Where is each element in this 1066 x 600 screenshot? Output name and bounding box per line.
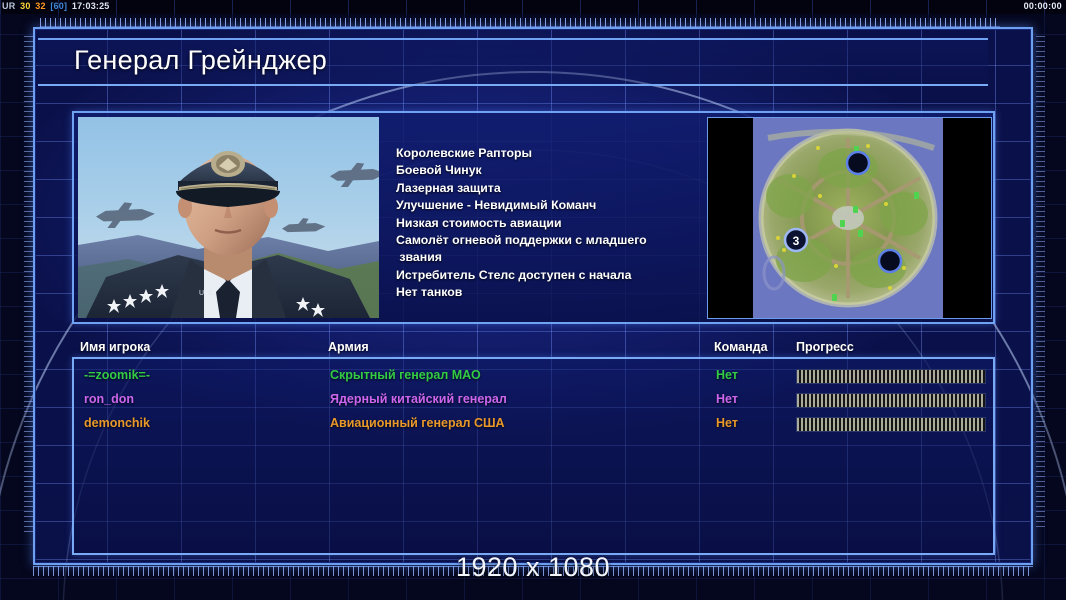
table-row: ron_don Ядерный китайский генерал Нет [74, 389, 993, 413]
fps-value-2: 32 [35, 1, 45, 11]
general-info-panel: U.S. [72, 111, 995, 324]
minimap: 3 [707, 117, 992, 319]
status-bar: UR 30 32 [60] 17:03:25 00:00:00 [0, 0, 1066, 14]
player-name: ron_don [84, 392, 134, 406]
start-position-label: 3 [793, 234, 800, 248]
player-list-header: Имя игрока Армия Команда Прогресс [72, 340, 995, 358]
page-title: Генерал Грейнджер [74, 45, 327, 76]
fps-prefix: UR [2, 1, 15, 11]
column-header-progress: Прогресс [796, 340, 854, 354]
player-name: demonchik [84, 416, 150, 430]
ruler-top [40, 18, 1000, 27]
player-list: -=zoomik=- Скрытный генерал МАО Нет ron_… [72, 357, 995, 555]
column-header-army: Армия [328, 340, 369, 354]
player-army: Скрытный генерал МАО [330, 368, 481, 382]
player-army: Авиационный генерал США [330, 416, 505, 430]
player-team: Нет [716, 368, 738, 382]
session-time: 17:03:25 [72, 1, 110, 11]
ruler-left [24, 36, 33, 536]
loading-screen: Генерал Грейнджер [0, 0, 1066, 600]
table-row: -=zoomik=- Скрытный генерал МАО Нет [74, 365, 993, 389]
table-row: demonchik Авиационный генерал США Нет [74, 413, 993, 437]
svg-text:U.S.: U.S. [199, 290, 217, 297]
player-army: Ядерный китайский генерал [330, 392, 507, 406]
general-portrait: U.S. [78, 117, 379, 318]
ruler-right [1036, 36, 1045, 531]
title-bar: Генерал Грейнджер [38, 38, 988, 86]
player-name: -=zoomik=- [84, 368, 150, 382]
player-team: Нет [716, 416, 738, 430]
player-team: Нет [716, 392, 738, 406]
fps-value: 30 [20, 1, 30, 11]
player-progress-bar [796, 393, 986, 408]
fps-bracket: [60] [50, 1, 67, 11]
fps-counter: UR 30 32 [60] 17:03:25 [2, 1, 112, 12]
status-bar-grid [0, 0, 1066, 14]
column-header-name: Имя игрока [80, 340, 150, 354]
player-progress-bar [796, 417, 986, 432]
resolution-watermark: 1920 x 1080 [0, 552, 1066, 583]
elapsed-clock: 00:00:00 [1024, 1, 1062, 12]
column-header-team: Команда [714, 340, 768, 354]
player-progress-bar [796, 369, 986, 384]
